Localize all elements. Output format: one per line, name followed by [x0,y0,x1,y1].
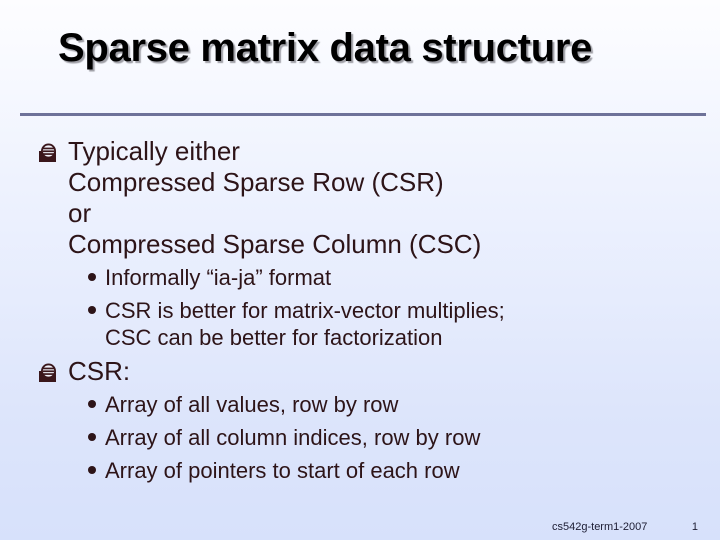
sub-bullet-text: Informally “ia-ja” format [105,265,331,290]
bullet-item-csr: CSR: [0,356,720,387]
bullet-text: CSR: [68,356,130,386]
round-dot-bullet-icon [88,273,96,281]
bullet-text: Typically either Compressed Sparse Row (… [68,136,481,259]
sub-bullet-text: Array of all values, row by row [105,392,398,417]
sub-bullet-text: Array of pointers to start of each row [105,458,460,483]
round-dot-bullet-icon [88,466,96,474]
round-dot-bullet-icon [88,433,96,441]
sub-bullet-item-csr-vs-csc: CSR is better for matrix-vector multipli… [0,297,720,351]
sub-bullet-item-array-pointers: Array of pointers to start of each row [0,457,720,484]
sub-bullet-item-informally-format: Informally “ia-ja” format [0,264,720,291]
page-title: Sparse matrix data structure [58,26,592,71]
round-dot-bullet-icon [88,400,96,408]
slide-footer: cs542g-term1-2007 1 [552,518,708,536]
sub-bullet-text: Array of all column indices, row by row [105,425,480,450]
title-block: Sparse matrix data structure [0,26,720,88]
slide-body: Typically either Compressed Sparse Row (… [0,136,720,484]
bullet-item-typically-either: Typically either Compressed Sparse Row (… [0,136,720,260]
sub-bullet-text: CSR is better for matrix-vector multipli… [105,298,505,350]
circled-stacked-bullet-icon [38,142,60,163]
course-label: cs542g-term1-2007 [552,521,647,533]
circled-stacked-bullet-icon [38,362,60,383]
title-divider [20,113,706,116]
slide-canvas: Sparse matrix data structure Typically e… [0,0,720,540]
round-dot-bullet-icon [88,306,96,314]
sub-bullet-item-array-values: Array of all values, row by row [0,391,720,418]
sub-bullet-item-array-column-indices: Array of all column indices, row by row [0,424,720,451]
page-number: 1 [692,521,698,533]
